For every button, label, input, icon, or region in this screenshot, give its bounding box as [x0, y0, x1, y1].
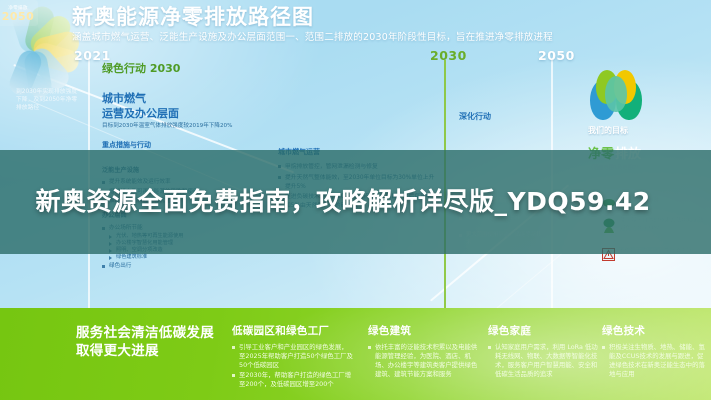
list-item: 至2030年，帮助客户打造的绿色工厂增至200个，及低碳园区增至200个 [232, 371, 354, 389]
band-section-title: 低碳园区和绿色工厂 [232, 324, 354, 339]
header: 新奥能源净零排放路径图 涵盖城市燃气运营、泛能生产设施及办公层面范围一、范围二排… [72, 4, 703, 46]
badge-year-label: 2050 [2, 11, 35, 22]
city-gas-heading-1: 城市燃气 [102, 92, 277, 107]
band-section-title: 绿色建筑 [368, 324, 480, 339]
list-item: 认知家庭用户需求，利用 LoRa 低功耗无线网、物联、大数据等智能化技术，服务客… [488, 343, 598, 378]
year-label-2050: 2050 [538, 48, 575, 63]
page-subtitle: 涵盖城市燃气运营、泛能生产设施及办公层面范围一、范围二排放的2030年阶段性目标… [72, 31, 703, 45]
city-gas-target-desc: 目标到2030年温室气体排放强度较2019年下降20% [102, 123, 277, 131]
band-section-list: 积极关注生物质、地热、储能、氢能及CCUS技术的发展与跟进，促进绿色技术在新奥泛… [602, 343, 706, 378]
left-pathway-note: 到2030年实现排放强度下降，及到2050年净零排放路径 [16, 88, 80, 113]
green-action-title: 绿色行动 2030 [102, 62, 277, 77]
band-section-list: 认知家庭用户需求，利用 LoRa 低功耗无线网、物联、大数据等智能化技术，服务客… [488, 343, 598, 378]
band-section-title: 绿色技术 [602, 324, 706, 339]
deepen-action-column: 深化行动 [459, 112, 545, 123]
deepen-action-title: 深化行动 [459, 112, 545, 123]
band-section-green-building: 绿色建筑 依托丰富的泛能技术积累以及电能供能源管理经验，为医院、酒店、机场、办公… [368, 324, 480, 380]
band-section-green-tech: 绿色技术 积极关注生物质、地热、储能、氢能及CCUS技术的发展与跟进，促进绿色技… [602, 324, 706, 380]
office-list-2: 绿色出行 [102, 261, 277, 269]
city-gas-heading-2: 运营及办公层面 [102, 107, 277, 122]
list-item: 积极关注生物质、地热、储能、氢能及CCUS技术的发展与跟进，促进绿色技术在新奥泛… [602, 343, 706, 378]
band-headline: 服务社会清洁低碳发展 取得更大进展 [76, 324, 226, 360]
bottom-green-band: 服务社会清洁低碳发展 取得更大进展 低碳园区和绿色工厂 引导工业客户和产业园区的… [0, 308, 711, 400]
year-label-2021: 2021 [74, 48, 111, 63]
list-item: 依托丰富的泛能技术积累以及电能供能源管理经验，为医院、酒店、机场、办公楼宇等建筑… [368, 343, 480, 378]
net-zero-2050-badge: 净零排放 2050 [0, 0, 38, 26]
infographic-canvas: 净零排放 2050 新奥能源净零排放路径图 涵盖城市燃气运营、泛能生产设施及办公… [0, 0, 711, 400]
band-section-title: 绿色家庭 [488, 324, 598, 339]
band-section-list: 引导工业客户和产业园区的绿色发展，至2025年帮助客户打造50个绿色工厂及50个… [232, 343, 354, 389]
list-item: 引导工业客户和产业园区的绿色发展，至2025年帮助客户打造50个绿色工厂及50个… [232, 343, 354, 369]
band-section-low-carbon-park: 低碳园区和绿色工厂 引导工业客户和产业园区的绿色发展，至2025年帮助客户打造5… [232, 324, 354, 390]
list-item: 绿色建筑标准 [109, 253, 277, 260]
page-title: 新奥能源净零排放路径图 [72, 4, 703, 30]
overlay-caption-text: 新奥资源全面免费指南，攻略解析详尽版_YDQ59.42 [36, 186, 676, 219]
year-label-2030: 2030 [430, 48, 467, 63]
overlay-caption-bar: 新奥资源全面免费指南，攻略解析详尽版_YDQ59.42 [0, 150, 711, 254]
band-section-green-home: 绿色家庭 认知家庭用户需求，利用 LoRa 低功耗无线网、物联、大数据等智能化技… [488, 324, 598, 380]
goal-title: 我们的目标 [588, 126, 698, 137]
list-item: 绿色出行 [102, 261, 277, 269]
band-section-list: 依托丰富的泛能技术积累以及电能供能源管理经验，为医院、酒店、机场、办公楼宇等建筑… [368, 343, 480, 378]
goal-flower-icon [588, 68, 644, 122]
band-headline-block: 服务社会清洁低碳发展 取得更大进展 [76, 324, 226, 360]
